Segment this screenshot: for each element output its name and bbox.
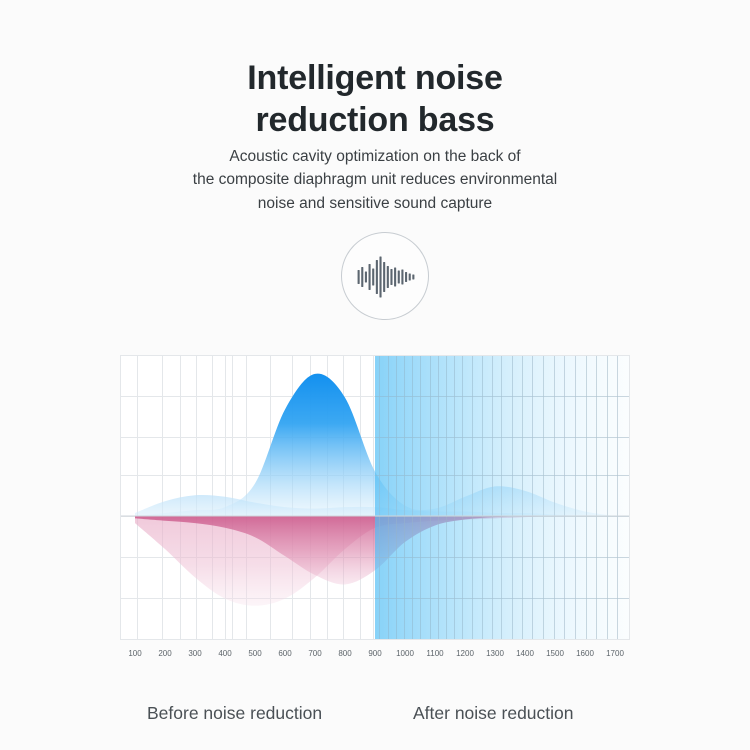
x-axis-tick-label: 600 bbox=[278, 648, 291, 660]
page-subtitle-line-2: the composite diaphragm unit reduces env… bbox=[0, 168, 750, 192]
page-subtitle: Acoustic cavity optimization on the back… bbox=[0, 145, 750, 216]
sound-wave-bar-4 bbox=[372, 269, 374, 286]
sound-wave-bar-12 bbox=[401, 270, 403, 285]
sound-wave-bar-15 bbox=[412, 275, 414, 280]
x-axis-tick-label: 900 bbox=[368, 648, 381, 660]
x-axis-tick-label: 300 bbox=[188, 648, 201, 660]
page-title-line-1: Intelligent noise bbox=[247, 59, 502, 97]
page-subtitle-line-3: noise and sensitive sound capture bbox=[0, 192, 750, 216]
page-title: Intelligent noise reduction bass bbox=[0, 57, 750, 141]
sound-wave-bar-9 bbox=[390, 269, 392, 285]
page-subtitle-line-1: Acoustic cavity optimization on the back… bbox=[0, 145, 750, 169]
sound-wave-bar-7 bbox=[383, 262, 385, 292]
sound-wave-bar-11 bbox=[398, 271, 400, 284]
sound-wave-icon bbox=[342, 233, 430, 321]
x-axis-tick-label: 1300 bbox=[486, 648, 504, 660]
caption-before-noise-reduction: Before noise reduction bbox=[147, 700, 322, 726]
page-title-line-2: reduction bass bbox=[0, 99, 750, 141]
after-noise-reduction-overlay bbox=[375, 355, 630, 640]
sound-wave-badge bbox=[341, 232, 429, 320]
infographic-page: Intelligent noise reduction bass Acousti… bbox=[0, 0, 750, 750]
x-axis-tick-label: 400 bbox=[218, 648, 231, 660]
sound-wave-bar-8 bbox=[387, 266, 389, 288]
caption-after-noise-reduction: After noise reduction bbox=[413, 700, 574, 726]
chart-x-axis: 1002003004005006007008009001000110012001… bbox=[120, 648, 630, 662]
x-axis-tick-label: 800 bbox=[338, 648, 351, 660]
x-axis-tick-label: 1500 bbox=[546, 648, 564, 660]
sound-wave-bar-10 bbox=[394, 268, 396, 287]
x-axis-tick-label: 200 bbox=[158, 648, 171, 660]
sound-wave-bar-1 bbox=[361, 267, 363, 287]
sound-wave-bar-6 bbox=[379, 257, 381, 298]
noise-reduction-chart bbox=[120, 355, 630, 640]
sound-wave-bar-13 bbox=[405, 272, 407, 282]
x-axis-tick-label: 1200 bbox=[456, 648, 474, 660]
x-axis-tick-label: 1700 bbox=[606, 648, 624, 660]
sound-wave-bar-2 bbox=[365, 272, 367, 283]
sound-wave-bar-14 bbox=[409, 274, 411, 281]
chart-captions: Before noise reduction After noise reduc… bbox=[120, 700, 630, 730]
x-axis-tick-label: 700 bbox=[308, 648, 321, 660]
x-axis-tick-label: 500 bbox=[248, 648, 261, 660]
x-axis-tick-label: 100 bbox=[128, 648, 141, 660]
sound-wave-bar-0 bbox=[358, 270, 360, 284]
sound-wave-bar-3 bbox=[369, 264, 371, 290]
x-axis-tick-label: 1600 bbox=[576, 648, 594, 660]
x-axis-tick-label: 1400 bbox=[516, 648, 534, 660]
sound-wave-bar-5 bbox=[376, 260, 378, 294]
x-axis-tick-label: 1000 bbox=[396, 648, 414, 660]
chart-svg bbox=[120, 355, 630, 640]
x-axis-tick-label: 1100 bbox=[426, 648, 443, 660]
